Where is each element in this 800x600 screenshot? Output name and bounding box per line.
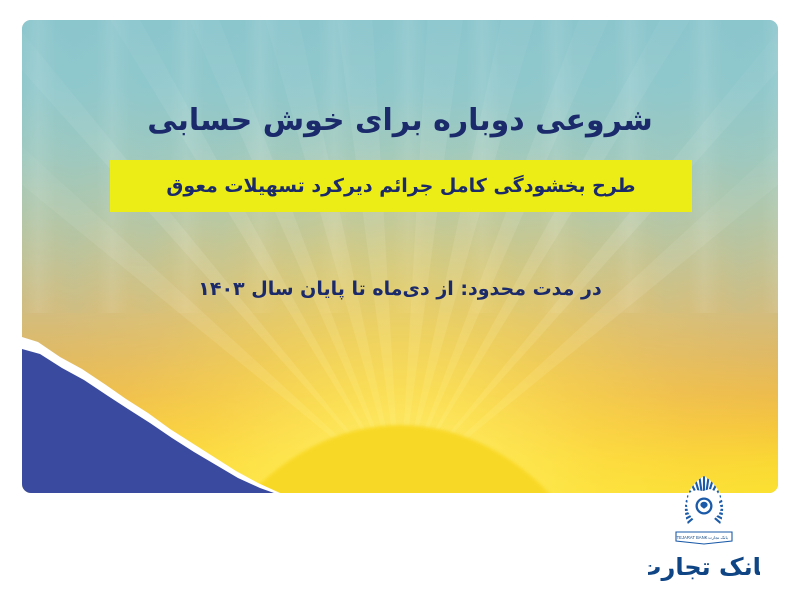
torn-paper-wedge (22, 323, 282, 493)
validity-period-text: در مدت محدود: از دی‌ماه تا پایان سال ۱۴۰… (22, 278, 778, 300)
offer-highlight-text: طرح بخشودگی کامل جرائم دیرکرد تسهیلات مع… (156, 175, 645, 198)
tejarat-sunburst-emblem-icon: TEJARAT BANK بانک تجارت (662, 470, 746, 548)
ribbon-latin-text: TEJARAT BANK (677, 535, 708, 540)
sunrise-artwork-card: شروعی دوباره برای خوش حسابی طرح بخشودگی … (22, 20, 778, 493)
wordmark-text: بانک تجارت (648, 553, 760, 581)
headline-text: شروعی دوباره برای خوش حسابی (22, 102, 778, 140)
offer-highlight-bar: طرح بخشودگی کامل جرائم دیرکرد تسهیلات مع… (110, 160, 692, 212)
banner-root: شروعی دوباره برای خوش حسابی طرح بخشودگی … (0, 0, 800, 600)
tejarat-bank-logo: TEJARAT BANK بانک تجارت بانک تجارت (648, 470, 760, 588)
tejarat-bank-wordmark: بانک تجارت (648, 548, 760, 584)
ribbon-persian-text: بانک تجارت (708, 535, 728, 540)
